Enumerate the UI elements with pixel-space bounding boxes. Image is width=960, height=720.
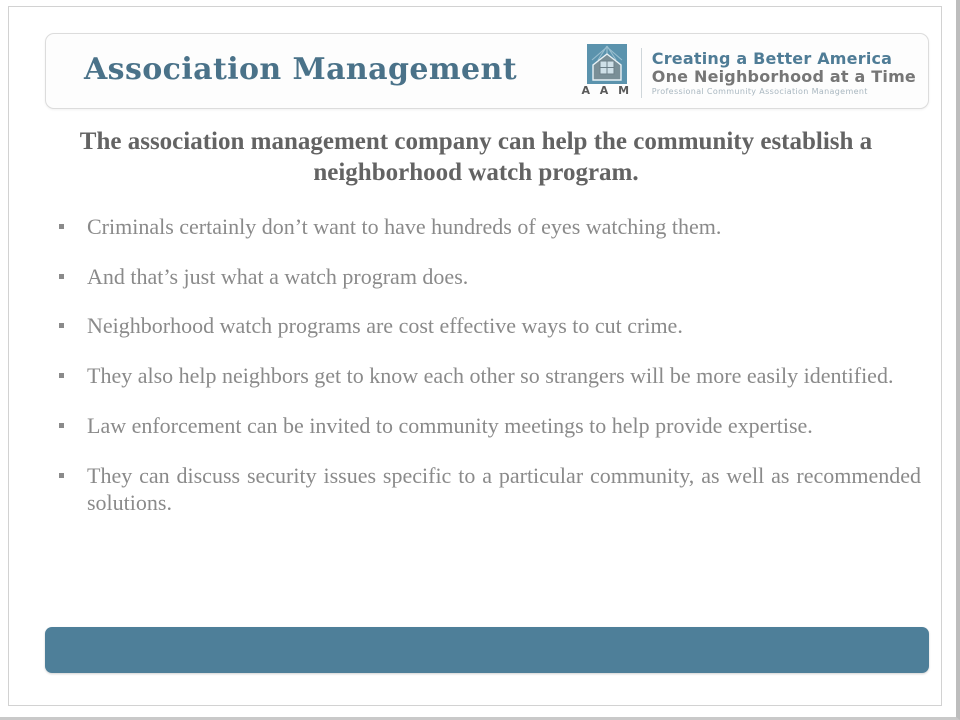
presentation-slide: Association Management [23,17,929,695]
list-item: They can discuss security issues specifi… [45,462,921,517]
list-item-text: They also help neighbors get to know eac… [87,362,921,390]
logo-tagline-line-2: One Neighborhood at a Time [652,68,916,86]
slide-title: Association Management [84,52,517,87]
bullet-marker-icon [59,423,64,428]
list-item: Neighborhood watch programs are cost eff… [45,312,921,340]
logo-tagline-line-1: Creating a Better America [652,50,916,68]
list-item-text: Criminals certainly don’t want to have h… [87,213,921,241]
bullet-marker-icon [59,274,64,279]
logo-tagline-line-3: Professional Community Association Manag… [652,88,916,97]
list-item: Criminals certainly don’t want to have h… [45,213,921,241]
logo-abbreviation: A A M [581,85,632,96]
list-item-text: Law enforcement can be invited to commun… [87,412,921,440]
list-item: They also help neighbors get to know eac… [45,362,921,390]
bullet-marker-icon [59,224,64,229]
logo-tagline: Creating a Better America One Neighborho… [652,50,916,97]
logo-divider [641,48,642,98]
list-item-text: Neighborhood watch programs are cost eff… [87,312,921,340]
list-item-text: They can discuss security issues specifi… [87,462,921,517]
bullet-marker-icon [59,473,64,478]
logo-mark: A A M [581,44,633,102]
slide-heading: The association management company can h… [69,127,883,188]
bullet-marker-icon [59,323,64,328]
list-item: And that’s just what a watch program doe… [45,263,921,291]
slide-header-box: Association Management [45,33,929,109]
bullet-marker-icon [59,373,64,378]
slide-footer-bar [45,627,929,673]
list-item-text: And that’s just what a watch program doe… [87,263,921,291]
aam-logo: A A M Creating a Better America One Neig… [581,42,916,104]
bullet-list: Criminals certainly don’t want to have h… [45,213,921,517]
list-item: Law enforcement can be invited to commun… [45,412,921,440]
slide-viewer-frame: Association Management [0,0,960,720]
house-icon [584,44,630,84]
slide-outer-border: Association Management [8,6,942,706]
